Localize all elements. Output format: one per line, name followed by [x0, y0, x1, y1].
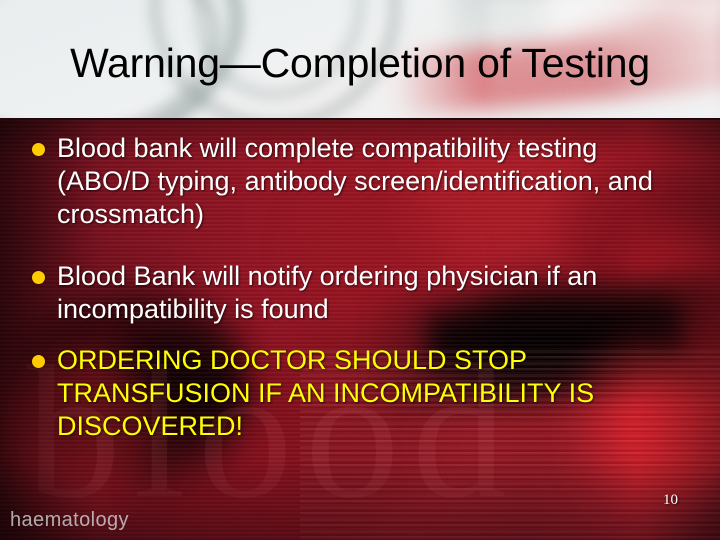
list-item: Blood Bank will notify ordering physicia…	[32, 260, 682, 326]
bullet-dot-icon	[32, 355, 45, 368]
bullet-text: Blood Bank will notify ordering physicia…	[57, 260, 682, 326]
bullet-dot-icon	[32, 143, 45, 156]
bullet-list: Blood bank will complete compatibility t…	[0, 120, 720, 540]
bullet-text-emphasis: ORDERING DOCTOR SHOULD STOP TRANSFUSION …	[57, 344, 682, 443]
slide-body: blood Blood bank will complete compatibi…	[0, 120, 720, 540]
slide-title: Warning—Completion of Testing	[0, 37, 720, 89]
bullet-text: Blood bank will complete compatibility t…	[57, 132, 682, 231]
bullet-dot-icon	[32, 271, 45, 284]
page-number: 10	[663, 492, 678, 509]
presentation-slide: Warning—Completion of Testing blood Bloo…	[0, 0, 720, 540]
brand-label: haematology	[10, 508, 129, 532]
list-item: ORDERING DOCTOR SHOULD STOP TRANSFUSION …	[32, 344, 682, 443]
list-item: Blood bank will complete compatibility t…	[32, 132, 682, 231]
slide-header: Warning—Completion of Testing	[0, 0, 720, 120]
